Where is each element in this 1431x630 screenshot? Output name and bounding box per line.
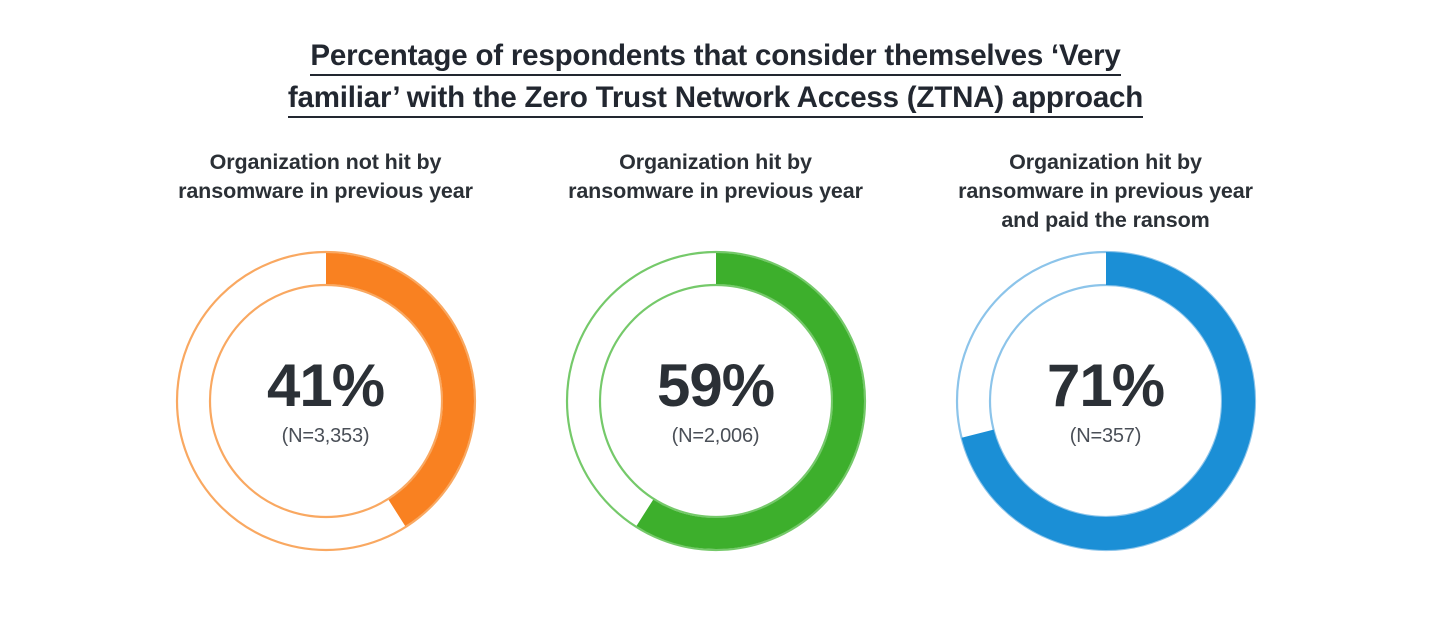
panel-label-line: Organization not hit by bbox=[136, 148, 516, 177]
donut-chart-hit-paid: 71% (N=357) bbox=[953, 248, 1259, 554]
chart-title: Percentage of respondents that consider … bbox=[216, 38, 1216, 122]
donut-center-hit: 59% (N=2,006) bbox=[563, 248, 869, 554]
donut-center-not-hit: 41% (N=3,353) bbox=[173, 248, 479, 554]
donut-panel-hit: Organization hit by ransomware in previo… bbox=[521, 148, 911, 554]
donut-panels: Organization not hit by ransomware in pr… bbox=[0, 148, 1431, 554]
donut-chart-not-hit: 41% (N=3,353) bbox=[173, 248, 479, 554]
chart-title-line-2: familiar’ with the Zero Trust Network Ac… bbox=[288, 80, 1143, 118]
donut-sample-size: (N=357) bbox=[1070, 425, 1141, 447]
donut-panel-not-hit: Organization not hit by ransomware in pr… bbox=[131, 148, 521, 554]
donut-chart-hit: 59% (N=2,006) bbox=[563, 248, 869, 554]
chart-title-line-1: Percentage of respondents that consider … bbox=[310, 38, 1120, 76]
donut-percent-value: 59% bbox=[657, 356, 774, 416]
donut-panel-hit-paid: Organization hit by ransomware in previo… bbox=[911, 148, 1301, 554]
panel-label-hit-paid: Organization hit by ransomware in previo… bbox=[916, 148, 1296, 244]
panel-label-line: and paid the ransom bbox=[916, 206, 1296, 235]
donut-sample-size: (N=2,006) bbox=[672, 425, 760, 447]
donut-center-hit-paid: 71% (N=357) bbox=[953, 248, 1259, 554]
panel-label-line: ransomware in previous year bbox=[136, 177, 516, 206]
panel-label-line: Organization hit by bbox=[526, 148, 906, 177]
panel-label-line: ransomware in previous year bbox=[916, 177, 1296, 206]
chart-figure: Percentage of respondents that consider … bbox=[0, 0, 1431, 630]
donut-percent-value: 41% bbox=[267, 356, 384, 416]
panel-label-line: ransomware in previous year bbox=[526, 177, 906, 206]
panel-label-hit: Organization hit by ransomware in previo… bbox=[526, 148, 906, 244]
donut-percent-value: 71% bbox=[1047, 356, 1164, 416]
panel-label-not-hit: Organization not hit by ransomware in pr… bbox=[136, 148, 516, 244]
donut-sample-size: (N=3,353) bbox=[282, 425, 370, 447]
panel-label-line: Organization hit by bbox=[916, 148, 1296, 177]
